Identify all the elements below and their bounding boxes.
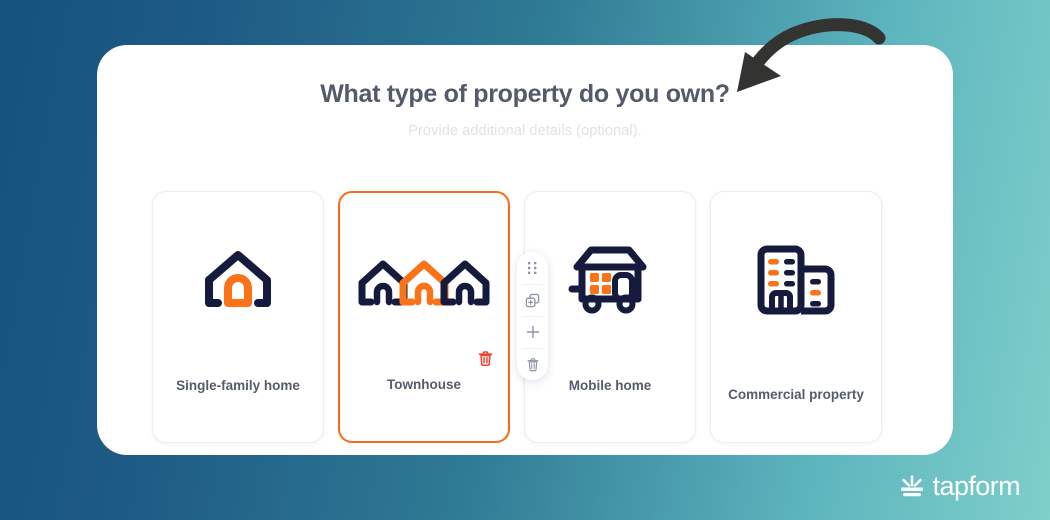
page-subtitle: Provide additional details (optional). [97,123,953,139]
mobile-home-icon [563,238,657,324]
option-label: Single-family home [153,377,323,395]
annotation-arrow [715,14,895,104]
duplicate-icon[interactable] [517,284,548,316]
option-label: Mobile home [525,377,695,395]
tapform-logo: tapform [899,471,1020,502]
option-label: Townhouse [340,376,508,394]
trash-icon[interactable] [517,348,548,380]
office-buildings-icon [755,238,837,324]
townhouse-row-icon [356,238,492,324]
trash-icon[interactable] [477,350,494,367]
option-card-mobile-home[interactable]: Mobile home [524,191,696,443]
house-icon [200,238,276,324]
option-label: Commercial property [711,386,881,404]
element-toolbar [517,252,548,380]
option-card-single-family-home[interactable]: Single-family home [152,191,324,443]
tapform-starburst-icon [899,475,925,499]
plus-icon[interactable] [517,316,548,348]
option-card-commercial-property[interactable]: Commercial property [710,191,882,443]
tapform-wordmark: tapform [933,471,1020,502]
drag-handle-icon[interactable] [517,252,548,284]
option-card-townhouse[interactable]: Townhouse [338,191,510,443]
question-panel: What type of property do you own? Provid… [97,45,953,455]
